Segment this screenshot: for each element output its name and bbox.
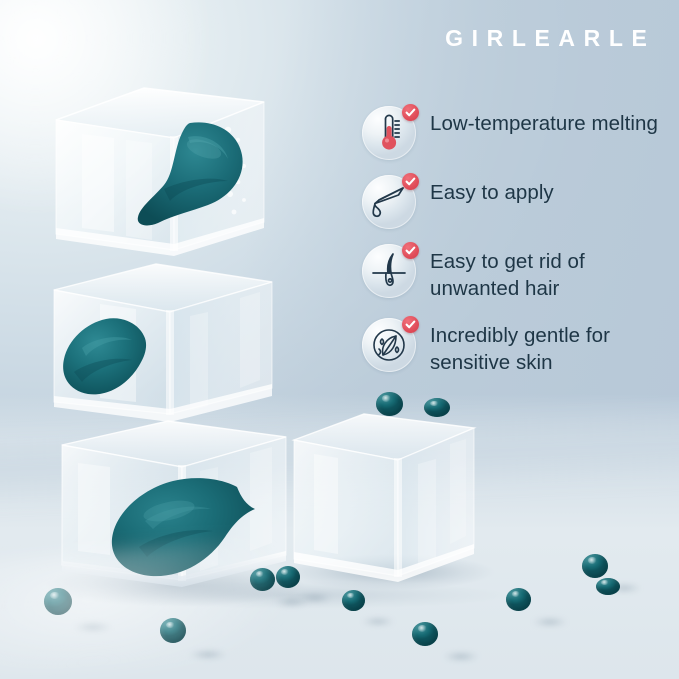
- feature-list: Low-temperature melting: [362, 104, 662, 389]
- glass-cube-middle: [44, 256, 294, 431]
- check-badge-icon: [402, 173, 419, 190]
- check-badge-icon: [402, 242, 419, 259]
- brand-wordmark: GIRLEARLE: [430, 27, 662, 50]
- wax-bead: [506, 588, 531, 611]
- feature-label: Low-temperature melting: [430, 104, 658, 137]
- feature-label: Easy to apply: [430, 173, 554, 206]
- wax-blob-middle: [56, 314, 164, 398]
- feature-icon-wrap: [362, 175, 416, 229]
- feature-label: Incredibly gentle for sensitive skin: [430, 316, 662, 377]
- feature-item-incredibly-gentle-for-sensitive-skin: Incredibly gentle for sensitive skin: [362, 316, 662, 377]
- feature-icon-wrap: [362, 106, 416, 160]
- wax-blob-top: [130, 119, 254, 229]
- glass-cube-top: [48, 82, 288, 267]
- feature-item-easy-to-apply: Easy to apply: [362, 173, 662, 229]
- wax-bead: [582, 554, 608, 578]
- check-badge-icon: [402, 104, 419, 121]
- bead-on-cube: [376, 392, 403, 416]
- feature-icon-wrap: [362, 244, 416, 298]
- feature-label: Easy to get rid of unwanted hair: [430, 242, 662, 303]
- product-feature-image: GIRLEARLE: [0, 0, 679, 679]
- wax-bead: [596, 578, 620, 595]
- check-badge-icon: [402, 316, 419, 333]
- feature-icon-wrap: [362, 318, 416, 372]
- feature-item-easy-to-get-rid-of-unwanted-hair: Easy to get rid of unwanted hair: [362, 242, 662, 303]
- feature-item-low-temperature-melting: Low-temperature melting: [362, 104, 662, 160]
- bead-on-cube: [424, 398, 450, 417]
